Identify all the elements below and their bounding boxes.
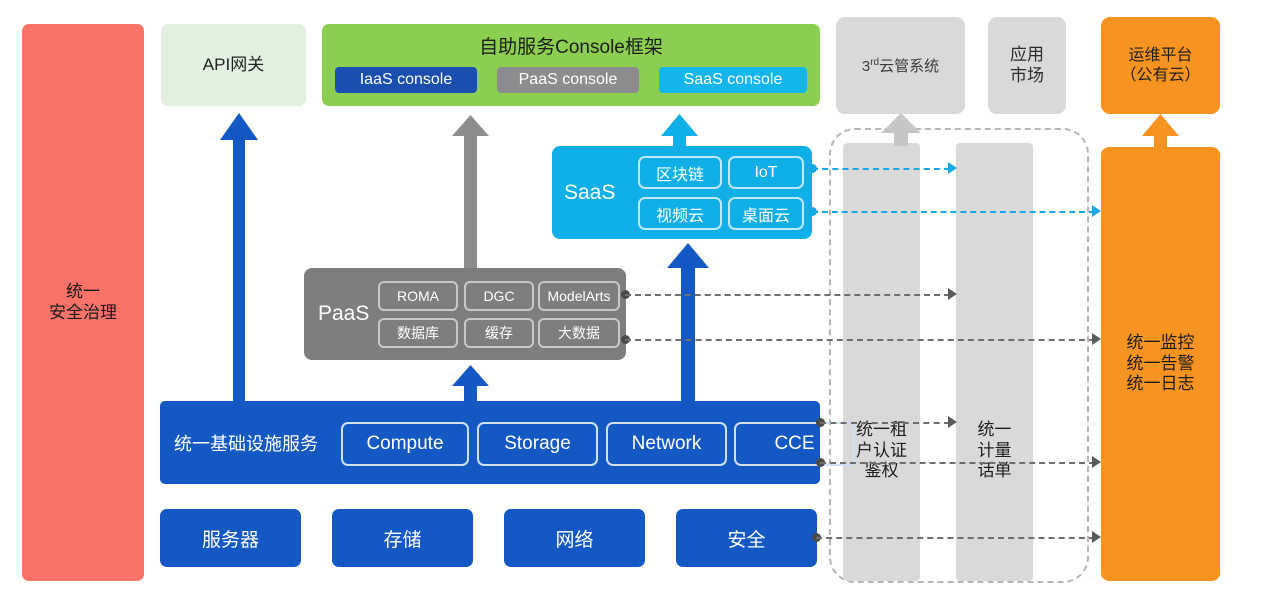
ops-platform-header-box: 运维平台 （公有云） bbox=[1101, 17, 1220, 114]
arrow-saas-to-console bbox=[661, 114, 698, 149]
api-gateway-label: API网关 bbox=[203, 55, 264, 75]
unified-infrastructure-title: 统一基础设施服务 bbox=[174, 430, 318, 456]
paas-block: PaaS ROMA DGC ModelArts 数据库 缓存 大数据 bbox=[304, 268, 626, 360]
connector-arrowhead-paas-lower bbox=[1092, 333, 1101, 345]
hardware-security-label: 安全 bbox=[727, 525, 765, 552]
connector-saas-to-billing bbox=[812, 168, 950, 170]
connector-arrowhead-infra-upper bbox=[948, 416, 957, 428]
architecture-diagram: 统一 安全治理 API网关 自助服务Console框架 IaaS console… bbox=[0, 0, 1265, 605]
unified-ops-label: 统一监控 统一告警 统一日志 bbox=[1127, 333, 1195, 394]
api-gateway-box: API网关 bbox=[161, 24, 306, 106]
app-market-label: 应用 市场 bbox=[1010, 45, 1044, 86]
saas-console-chip[interactable]: SaaS console bbox=[659, 67, 807, 93]
arrow-infra-to-paas bbox=[452, 365, 489, 401]
hardware-storage-label: 存储 bbox=[383, 525, 421, 552]
console-framework-title: 自助服务Console框架 bbox=[322, 32, 820, 59]
security-governance-panel: 统一 安全治理 bbox=[22, 24, 144, 581]
hardware-network-label: 网络 bbox=[555, 525, 593, 552]
paas-block-title: PaaS bbox=[318, 302, 369, 326]
saas-block-title: SaaS bbox=[564, 181, 615, 205]
connector-arrowhead-hardware bbox=[1092, 531, 1101, 543]
saas-block: SaaS 区块链 IoT 视频云 桌面云 bbox=[552, 146, 812, 239]
hardware-security-box: 安全 bbox=[676, 509, 817, 567]
paas-chip-database[interactable]: 数据库 bbox=[378, 318, 458, 348]
paas-chip-cache[interactable]: 缓存 bbox=[464, 318, 534, 348]
hardware-network-box: 网络 bbox=[504, 509, 645, 567]
connector-arrowhead-saas-upper bbox=[948, 162, 957, 174]
saas-chip-desktop-cloud[interactable]: 桌面云 bbox=[728, 197, 804, 230]
saas-chip-iot[interactable]: IoT bbox=[728, 156, 804, 189]
unified-billing-label: 统一 计量 话单 bbox=[956, 420, 1033, 482]
security-governance-label: 统一 安全治理 bbox=[49, 282, 117, 323]
unified-ops-panel: 统一监控 统一告警 统一日志 bbox=[1101, 147, 1220, 581]
app-market-box: 应用 市场 bbox=[988, 17, 1066, 114]
unified-billing-bar: 统一 计量 话单 bbox=[956, 143, 1033, 581]
arrow-infra-to-apigateway bbox=[220, 113, 258, 401]
connector-paas-to-billing bbox=[625, 294, 950, 296]
infra-chip-network[interactable]: Network bbox=[606, 422, 727, 466]
hardware-server-label: 服务器 bbox=[202, 525, 259, 552]
paas-chip-bigdata[interactable]: 大数据 bbox=[538, 318, 620, 348]
infra-chip-storage[interactable]: Storage bbox=[477, 422, 598, 466]
unified-tenant-auth-bar: 统一租 户认证 鉴权 bbox=[843, 143, 920, 581]
ops-platform-header-label: 运维平台 （公有云） bbox=[1120, 46, 1200, 84]
third-party-cloud-management-box: 3rd云管系统 bbox=[836, 17, 965, 114]
saas-chip-blockchain[interactable]: 区块链 bbox=[638, 156, 722, 189]
connector-hardware-to-ops bbox=[816, 537, 1095, 539]
connector-paas-to-ops bbox=[625, 339, 1095, 341]
saas-chip-video-cloud[interactable]: 视频云 bbox=[638, 197, 722, 230]
paas-chip-dgc[interactable]: DGC bbox=[464, 281, 534, 311]
arrow-infra-to-saas bbox=[667, 243, 709, 401]
infra-chip-compute[interactable]: Compute bbox=[341, 422, 469, 466]
paas-chip-modelarts[interactable]: ModelArts bbox=[538, 281, 620, 311]
paas-chip-roma[interactable]: ROMA bbox=[378, 281, 458, 311]
hardware-server-box: 服务器 bbox=[160, 509, 301, 567]
console-framework-box: 自助服务Console框架 IaaS console PaaS console … bbox=[322, 24, 820, 106]
infra-chip-cce[interactable]: CCE bbox=[734, 422, 855, 466]
arrow-ops-panel-to-header bbox=[1142, 114, 1179, 147]
hardware-storage-box: 存储 bbox=[332, 509, 473, 567]
connector-infra-to-billing bbox=[820, 422, 950, 424]
unified-infrastructure-bar: 统一基础设施服务 Compute Storage Network CCE bbox=[160, 401, 820, 484]
connector-arrowhead-saas-lower bbox=[1092, 205, 1101, 217]
connector-infra-to-ops bbox=[820, 462, 1095, 464]
third-party-cloud-management-label: 3rd云管系统 bbox=[862, 55, 939, 76]
iaas-console-chip[interactable]: IaaS console bbox=[335, 67, 477, 93]
paas-console-chip[interactable]: PaaS console bbox=[497, 67, 639, 93]
arrow-paas-to-console bbox=[452, 115, 489, 268]
connector-arrowhead-infra-lower bbox=[1092, 456, 1101, 468]
connector-saas-to-ops bbox=[812, 211, 1095, 213]
connector-arrowhead-paas-upper bbox=[948, 288, 957, 300]
